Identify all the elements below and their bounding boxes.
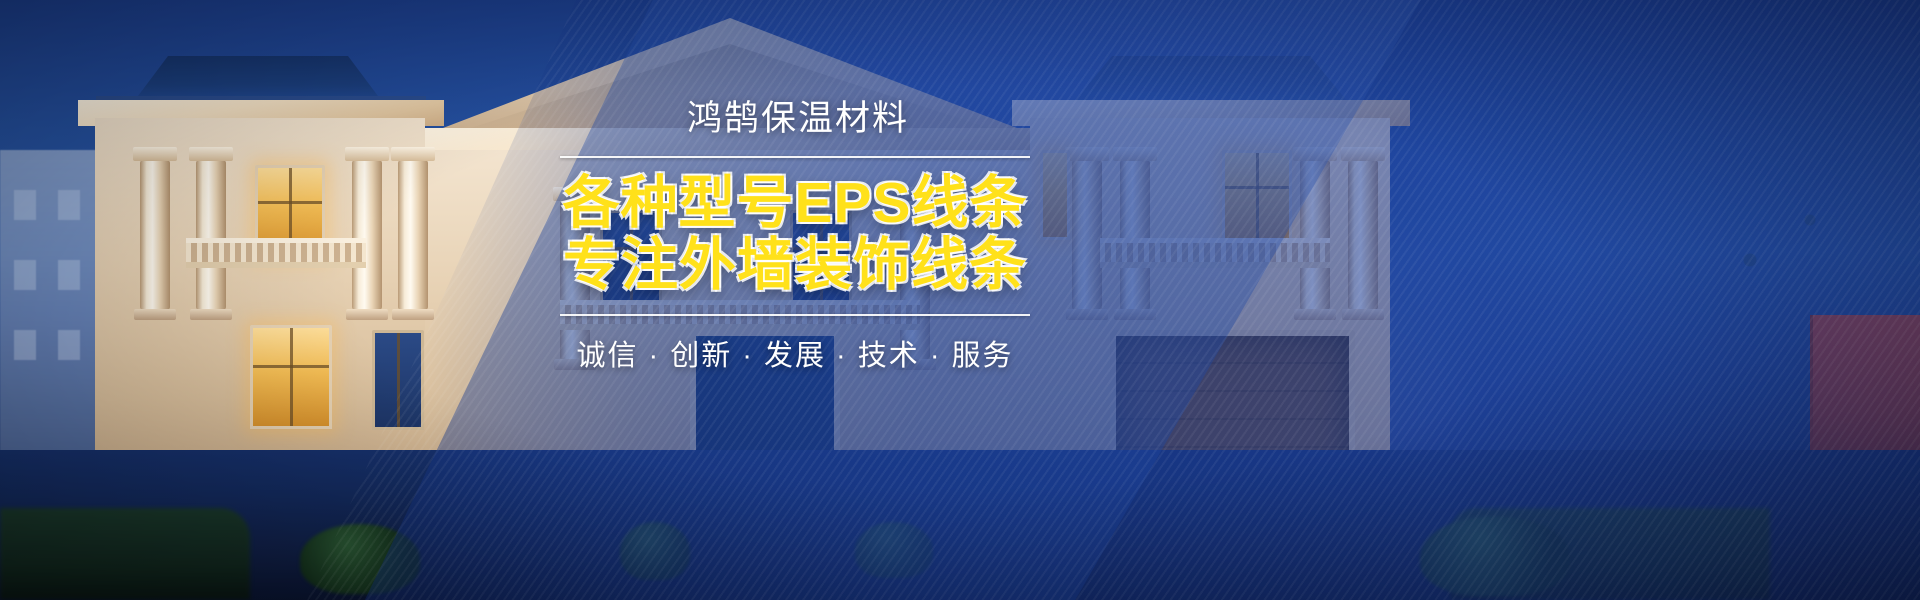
headline-line-2: 专注外墙装饰线条 <box>560 234 1030 296</box>
divider-bottom <box>560 314 1030 316</box>
brand-title: 鸿鹄保温材料 <box>560 98 1030 140</box>
banner-text-block: 鸿鹄保温材料 各种型号EPS线条 专注外墙装饰线条 诚信 · 创新 · 发展 ·… <box>560 98 1030 374</box>
headline-line-1: 各种型号EPS线条 <box>560 172 1030 234</box>
tagline: 诚信 · 创新 · 发展 · 技术 · 服务 <box>560 332 1030 374</box>
hero-banner: 鸿鹄保温材料 各种型号EPS线条 专注外墙装饰线条 诚信 · 创新 · 发展 ·… <box>0 0 1920 600</box>
divider-top <box>560 156 1030 158</box>
